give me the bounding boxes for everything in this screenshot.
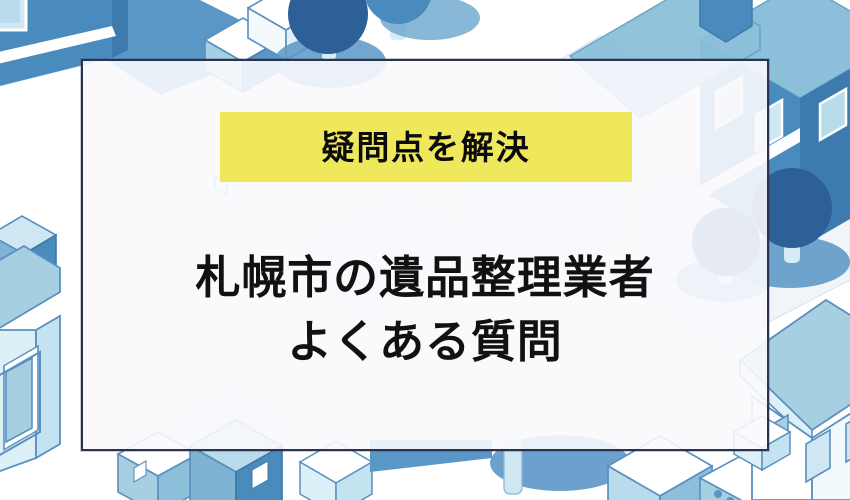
eyebrow-label: 疑問点を解決	[322, 131, 531, 164]
poster-canvas: 疑問点を解決 札幌市の遺品整理業者 よくある質問	[0, 0, 850, 500]
content-card: 疑問点を解決 札幌市の遺品整理業者 よくある質問	[81, 59, 769, 451]
page-title-line-2: よくある質問	[83, 310, 767, 374]
page-title-line-1: 札幌市の遺品整理業者	[83, 246, 767, 310]
page-title: 札幌市の遺品整理業者 よくある質問	[83, 246, 767, 374]
eyebrow-badge: 疑問点を解決	[220, 112, 632, 182]
